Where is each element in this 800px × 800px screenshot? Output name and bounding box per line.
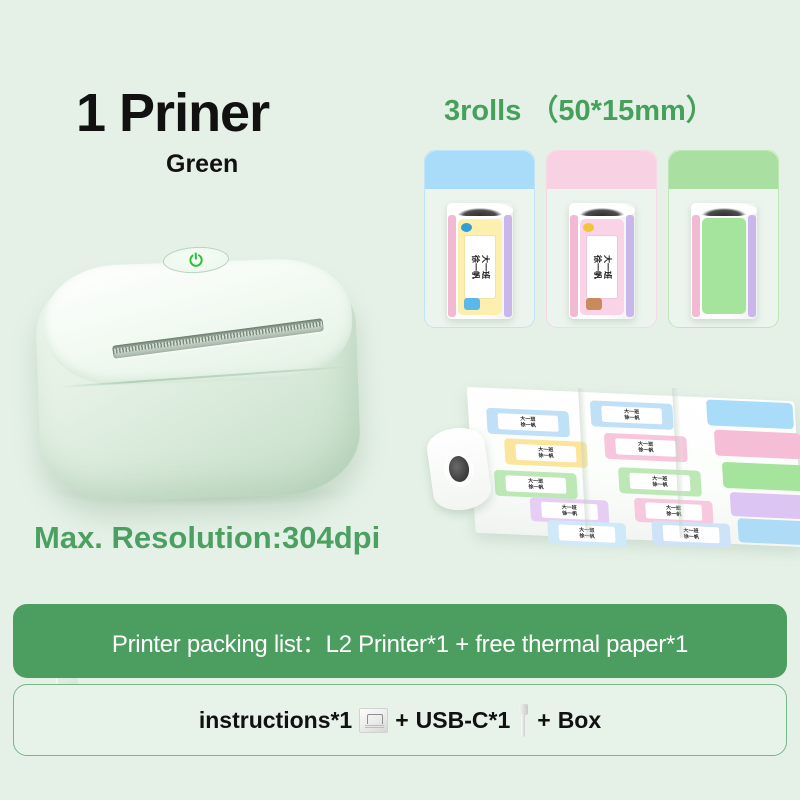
strip-label: 大一班徐一帆 (494, 470, 578, 500)
accessories-row: instructions*1 + USB-C*1 + Box (199, 704, 601, 737)
roll-edge-right (626, 215, 634, 317)
label-roll (691, 203, 757, 319)
cable-wire (521, 714, 525, 737)
usb-c-label: USB-C*1 (416, 707, 511, 734)
pack-pink-label-pack: 大一班徐一帆 (546, 150, 657, 328)
plus-sign-2: + (537, 707, 550, 734)
strip-label-text: 大一班徐一帆 (516, 444, 576, 463)
plus-sign-1: + (395, 707, 408, 734)
printed-label: 大一班徐一帆 (580, 219, 624, 315)
roll-core (447, 455, 470, 484)
sticker-icon (586, 298, 602, 310)
cable-plug (519, 704, 528, 715)
label-roll-core-wrap (425, 424, 494, 513)
pack-blue-label-pack: 大一班徐一帆 (424, 150, 535, 328)
pack-header-band (547, 151, 656, 189)
label-roll-packs: 大一班徐一帆大一班徐一帆 (424, 150, 780, 330)
strip-label-text: 大一班徐一帆 (663, 525, 720, 543)
printed-label: 大一班徐一帆 (458, 219, 502, 315)
strip-label-text: 大一班徐一帆 (506, 475, 566, 494)
power-icon: ⏻ (189, 251, 203, 269)
resolution-label: Max. Resolution:304dpi (34, 520, 380, 556)
strip-blank-label (706, 399, 794, 429)
packing-list-banner: Printer packing list：L2 Printer*1 + free… (13, 604, 787, 678)
strip-blank-label (714, 430, 800, 460)
roll-core (691, 203, 757, 218)
roll-core (447, 203, 513, 218)
strip-blank-label (722, 462, 800, 492)
roll-edge-left (448, 215, 456, 317)
manual-icon (359, 708, 388, 733)
roll-edge-left (692, 215, 700, 317)
label-text-area: 大一班徐一帆 (465, 236, 495, 298)
sticker-icon (461, 223, 472, 232)
printer-illustration (28, 248, 378, 518)
strip-blank-label (730, 492, 800, 520)
label-name-text: 大一班徐一帆 (470, 255, 490, 279)
strip-label-text: 大一班徐一帆 (498, 413, 558, 432)
strip-label: 大一班徐一帆 (651, 520, 731, 547)
strip-label-text: 大一班徐一帆 (602, 406, 662, 425)
roll-core (569, 203, 635, 218)
label-name-text: 大一班徐一帆 (592, 255, 612, 279)
pack-green-label-pack (668, 150, 779, 328)
accessories-box: instructions*1 + USB-C*1 + Box (13, 684, 787, 756)
usb-cable-icon (517, 704, 530, 737)
roll-edge-left (570, 215, 578, 317)
strip-label: 大一班徐一帆 (618, 467, 702, 497)
label-roll: 大一班徐一帆 (447, 203, 513, 319)
strip-label: 大一班徐一帆 (486, 408, 570, 438)
color-variant-label: Green (166, 150, 238, 179)
product-image-page: 1 Priner Green 3rolls （50*15mm） Max. Res… (0, 0, 800, 800)
strip-label-text: 大一班徐一帆 (616, 438, 676, 457)
roll-edge-right (504, 215, 512, 317)
packing-list-text: Printer packing list：L2 Printer*1 + free… (112, 624, 688, 659)
box-label: Box (558, 707, 601, 734)
blank-label-surface (702, 218, 746, 314)
page-title: 1 Priner (76, 82, 269, 144)
strip-label-text: 大一班徐一帆 (645, 503, 702, 521)
strip-blank-label (737, 518, 800, 546)
unrolled-label-strip: 大一班徐一帆大一班徐一帆大一班徐一帆大一班徐一帆大一班徐一帆大一班徐一帆大一班徐… (424, 378, 796, 558)
roll-edge-right (748, 215, 756, 317)
label-sheet: 大一班徐一帆大一班徐一帆大一班徐一帆大一班徐一帆大一班徐一帆大一班徐一帆大一班徐… (467, 387, 800, 547)
label-text-area: 大一班徐一帆 (587, 236, 617, 298)
pack-header-band (425, 151, 534, 189)
sticker-icon (464, 298, 480, 310)
label-roll: 大一班徐一帆 (569, 203, 635, 319)
strip-label: 大一班徐一帆 (504, 438, 588, 468)
rolls-heading: 3rolls （50*15mm） (444, 87, 715, 129)
sticker-icon (583, 223, 594, 232)
strip-label: 大一班徐一帆 (590, 400, 674, 430)
pack-header-band (669, 151, 778, 189)
instructions-label: instructions*1 (199, 707, 352, 734)
